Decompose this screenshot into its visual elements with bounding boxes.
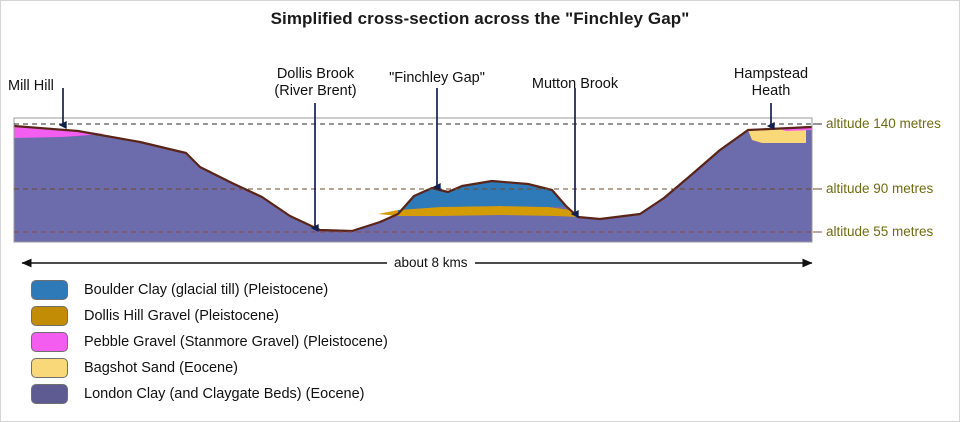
legend-label-pebble-gravel: Pebble Gravel (Stanmore Gravel) (Pleisto…	[84, 334, 388, 350]
legend-label-boulder-clay: Boulder Clay (glacial till) (Pleistocene…	[84, 282, 328, 298]
legend-item-boulder-clay[interactable]: Boulder Clay (glacial till) (Pleistocene…	[31, 277, 388, 303]
scale-label: about 8 kms	[387, 255, 475, 270]
legend-label-bagshot-sand: Bagshot Sand (Eocene)	[84, 360, 238, 376]
london-clay-body	[14, 127, 812, 242]
legend-swatch-london-clay	[31, 384, 68, 404]
legend-item-london-clay[interactable]: London Clay (and Claygate Beds) (Eocene)	[31, 381, 388, 407]
callout-finchley-gap: "Finchley Gap"	[382, 70, 492, 87]
legend: Boulder Clay (glacial till) (Pleistocene…	[31, 277, 388, 407]
altitude-label-140: altitude 140 metres	[826, 116, 941, 131]
callout-mill-hill-line-1: Mill Hill	[8, 78, 54, 95]
altitude-label-55: altitude 55 metres	[826, 224, 933, 239]
altitude-label-90: altitude 90 metres	[826, 181, 933, 196]
legend-swatch-dollis-gravel	[31, 306, 68, 326]
callout-finchley-gap-line-1: "Finchley Gap"	[382, 70, 492, 87]
callout-dollis-brook: Dollis Brook (River Brent)	[258, 66, 373, 100]
legend-swatch-bagshot-sand	[31, 358, 68, 378]
callout-hampstead-heath: Hampstead Heath	[714, 66, 828, 100]
callout-hampstead-heath-line-1: Hampstead	[714, 66, 828, 83]
callout-mill-hill: Mill Hill	[8, 78, 54, 95]
legend-item-pebble-gravel[interactable]: Pebble Gravel (Stanmore Gravel) (Pleisto…	[31, 329, 388, 355]
callout-hampstead-heath-line-2: Heath	[714, 83, 828, 100]
legend-swatch-boulder-clay	[31, 280, 68, 300]
callout-dollis-brook-line-2: (River Brent)	[258, 83, 373, 100]
legend-item-bagshot-sand[interactable]: Bagshot Sand (Eocene)	[31, 355, 388, 381]
strata-stack	[14, 126, 812, 242]
legend-label-dollis-gravel: Dollis Hill Gravel (Pleistocene)	[84, 308, 279, 324]
legend-swatch-pebble-gravel	[31, 332, 68, 352]
legend-label-london-clay: London Clay (and Claygate Beds) (Eocene)	[84, 386, 365, 402]
legend-item-dollis-gravel[interactable]: Dollis Hill Gravel (Pleistocene)	[31, 303, 388, 329]
callout-mutton-brook: Mutton Brook	[518, 76, 632, 93]
callout-dollis-brook-line-1: Dollis Brook	[258, 66, 373, 83]
callout-mutton-brook-line-1: Mutton Brook	[518, 76, 632, 93]
